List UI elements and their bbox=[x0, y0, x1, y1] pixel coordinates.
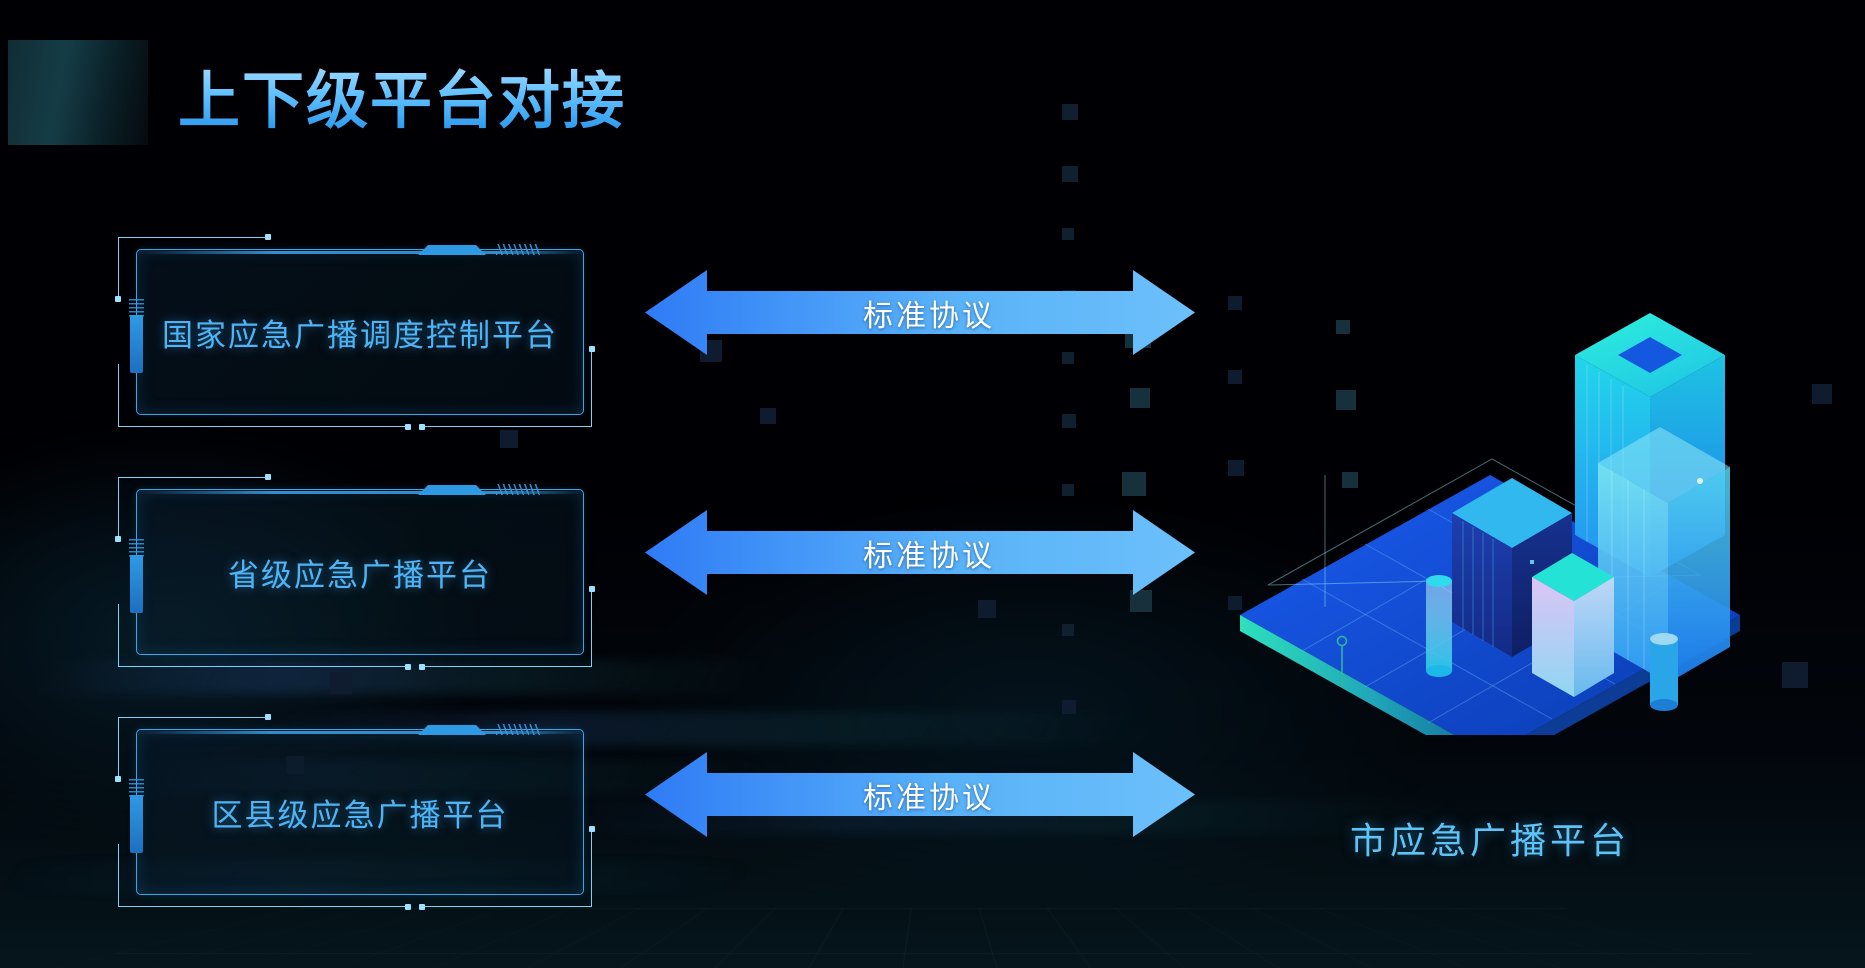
city-caption: 市应急广播平台 bbox=[1350, 812, 1680, 864]
protocol-arrow-1[interactable]: 标准协议 bbox=[645, 270, 1195, 355]
isometric-city-illustration bbox=[1230, 285, 1750, 735]
background-pixel bbox=[1062, 700, 1076, 714]
bracket-node-dot bbox=[589, 346, 595, 352]
background-pixel bbox=[500, 430, 518, 448]
arrow-label: 标准协议 bbox=[645, 752, 1195, 837]
background-pixel bbox=[1062, 624, 1074, 636]
platform-panel-provincial[interactable]: 省级应急广播平台 bbox=[118, 477, 592, 667]
title-decoration-block bbox=[8, 40, 148, 145]
platform-panel-county[interactable]: 区县级应急广播平台 bbox=[118, 717, 592, 907]
bracket-node-dot bbox=[115, 776, 121, 782]
panel-label: 区县级应急广播平台 bbox=[136, 717, 584, 907]
background-pixel bbox=[978, 600, 996, 618]
background-pixel bbox=[1782, 662, 1808, 688]
arrow-label: 标准协议 bbox=[645, 270, 1195, 355]
bracket-node-dot bbox=[589, 586, 595, 592]
background-pixel bbox=[1062, 166, 1078, 182]
slide-canvas: 上下级平台对接 国家应急广播调度控制平台 省级应急广播平台 bbox=[0, 0, 1865, 968]
background-pixel bbox=[1130, 388, 1150, 408]
background-pixel bbox=[760, 408, 776, 424]
bracket-node-dot bbox=[589, 826, 595, 832]
background-pixel bbox=[1062, 484, 1074, 496]
background-pixel bbox=[1062, 414, 1076, 428]
protocol-arrow-2[interactable]: 标准协议 bbox=[645, 510, 1195, 595]
platform-panel-national[interactable]: 国家应急广播调度控制平台 bbox=[118, 237, 592, 427]
background-floor-grid bbox=[0, 908, 1865, 968]
city-cylinder-left bbox=[1426, 575, 1452, 677]
panel-label: 省级应急广播平台 bbox=[136, 477, 584, 667]
slide-header: 上下级平台对接 bbox=[0, 28, 1865, 138]
arrow-label: 标准协议 bbox=[645, 510, 1195, 595]
city-building-lilac bbox=[1532, 553, 1614, 697]
background-pixel bbox=[1122, 472, 1146, 496]
protocol-arrow-3[interactable]: 标准协议 bbox=[645, 752, 1195, 837]
bracket-node-dot bbox=[115, 536, 121, 542]
panel-label: 国家应急广播调度控制平台 bbox=[136, 237, 584, 427]
page-title: 上下级平台对接 bbox=[178, 50, 626, 140]
background-pixel bbox=[330, 672, 352, 694]
bracket-node-dot bbox=[115, 296, 121, 302]
city-cylinder-right bbox=[1650, 633, 1678, 711]
background-pixel bbox=[1812, 384, 1832, 404]
background-pixel bbox=[1062, 228, 1074, 240]
